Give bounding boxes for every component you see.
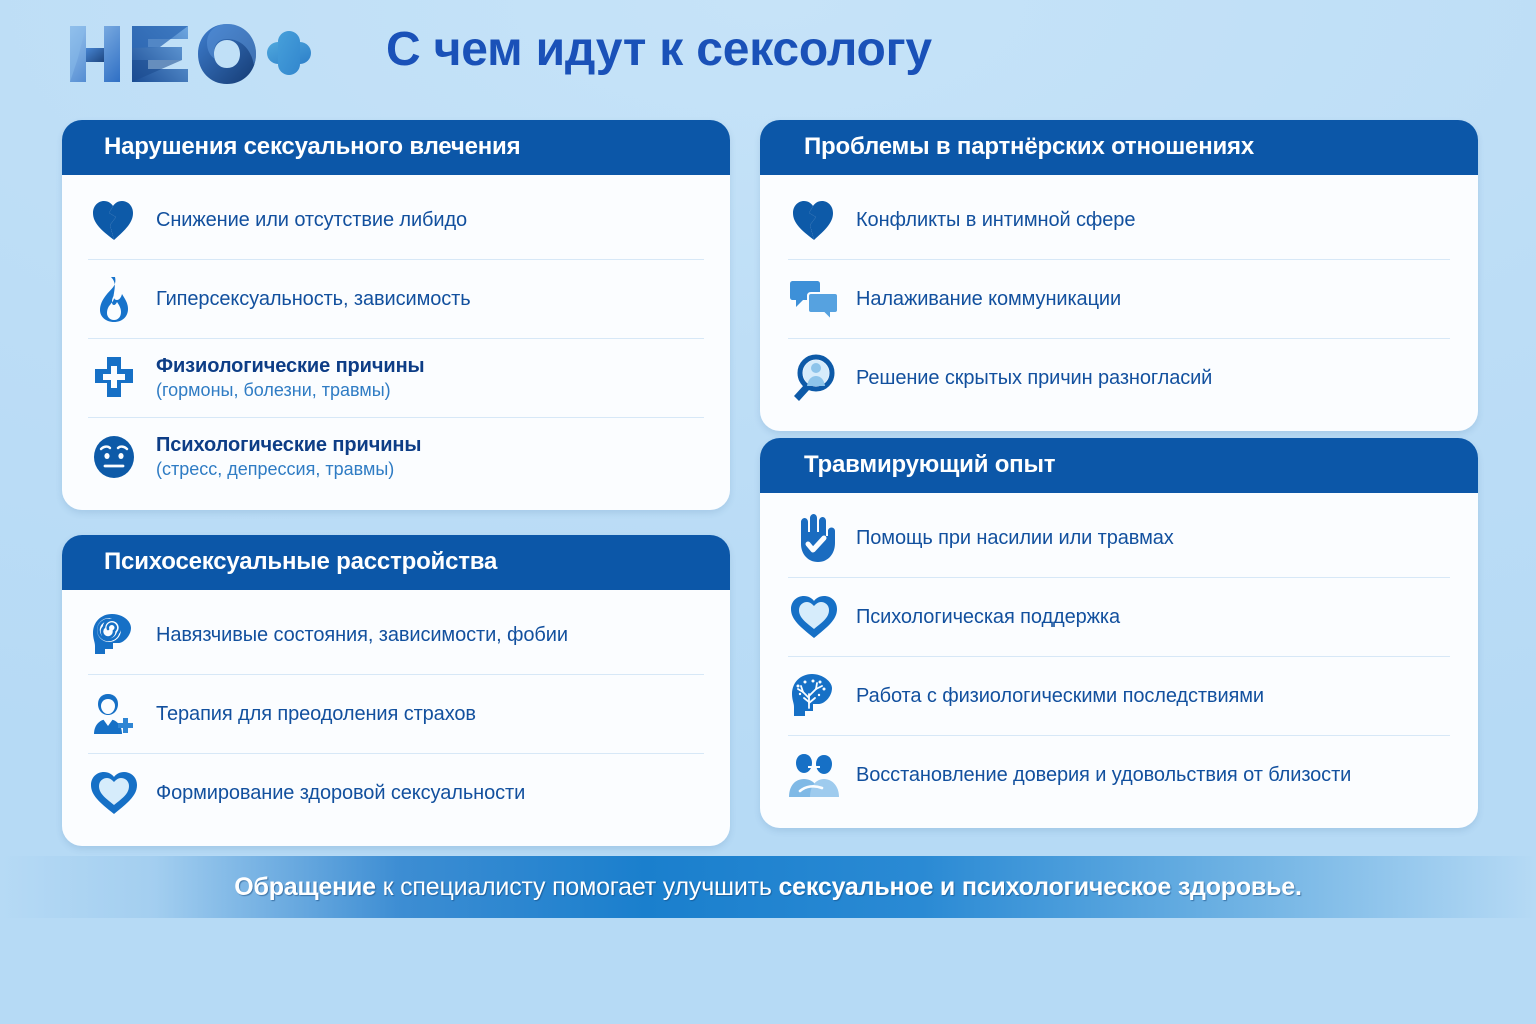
list-item-label: Психологическая поддержка bbox=[856, 606, 1120, 629]
list-item-text: Решение скрытых причин разногласий bbox=[856, 367, 1212, 390]
footer-lead: Обращение bbox=[234, 873, 376, 901]
list-item-label: Помощь при насилии или травмах bbox=[856, 527, 1174, 550]
card-psycho-body: Навязчивые состояния, зависимости, фобии… bbox=[62, 590, 730, 846]
list-item-text: Психологическая поддержка bbox=[856, 606, 1120, 629]
speech-bubbles-icon bbox=[788, 273, 840, 325]
medical-cross-icon bbox=[88, 352, 140, 404]
page-title: С чем идут к сексологу bbox=[386, 22, 932, 77]
card-libido-body: Снижение или отсутствие либидо Гиперсекс… bbox=[62, 175, 730, 510]
flame-icon bbox=[88, 273, 140, 325]
list-item-text: Конфликты в интимной сфере bbox=[856, 209, 1135, 232]
list-item-label: Навязчивые состояния, зависимости, фобии bbox=[156, 624, 568, 647]
list-item[interactable]: Конфликты в интимной сфере bbox=[788, 181, 1450, 260]
list-item[interactable]: Восстановление доверия и удовольствия от… bbox=[788, 736, 1450, 814]
card-trauma-title: Травмирующий опыт bbox=[760, 438, 1478, 493]
head-tree-icon bbox=[788, 670, 840, 722]
list-item-text: Навязчивые состояния, зависимости, фобии bbox=[156, 624, 568, 647]
footer-banner: Обращение к специалисту помогает улучшит… bbox=[0, 856, 1536, 918]
list-item-text: Восстановление доверия и удовольствия от… bbox=[856, 764, 1351, 787]
list-item[interactable]: Решение скрытых причин разногласий bbox=[788, 339, 1450, 417]
list-item-label: Восстановление доверия и удовольствия от… bbox=[856, 764, 1351, 787]
card-trauma-body: Помощь при насилии или травмах Психологи… bbox=[760, 493, 1478, 828]
heart-outline-icon bbox=[88, 767, 140, 819]
broken-heart-icon bbox=[88, 194, 140, 246]
list-item-label: Работа с физиологическими последствиями bbox=[856, 685, 1264, 708]
list-item[interactable]: Налаживание коммуникации bbox=[788, 260, 1450, 339]
list-item-text: Работа с физиологическими последствиями bbox=[856, 685, 1264, 708]
card-partner: Проблемы в партнёрских отношениях Конфли… bbox=[760, 120, 1478, 431]
card-partner-title: Проблемы в партнёрских отношениях bbox=[760, 120, 1478, 175]
list-item-text: Формирование здоровой сексуальности bbox=[156, 782, 525, 805]
card-psycho: Психосексуальные расстройства Навязчивые… bbox=[62, 535, 730, 846]
footer-banner-text: Обращение к специалисту помогает улучшит… bbox=[234, 873, 1301, 902]
list-item-label: Конфликты в интимной сфере bbox=[856, 209, 1135, 232]
list-item[interactable]: Гиперсексуальность, зависимость bbox=[88, 260, 704, 339]
list-item-label: Терапия для преодоления страхов bbox=[156, 703, 476, 726]
list-item-label: Снижение или отсутствие либидо bbox=[156, 209, 467, 232]
infographic-canvas: С чем идут к сексологу Нарушения сексуал… bbox=[0, 0, 1536, 1024]
list-item-label: Физиологические причины bbox=[156, 355, 425, 378]
list-item-label: Решение скрытых причин разногласий bbox=[856, 367, 1212, 390]
list-item-text: Налаживание коммуникации bbox=[856, 288, 1121, 311]
footer-strong: сексуальное и психологическое здоровье. bbox=[778, 873, 1301, 901]
list-item-label: Гиперсексуальность, зависимость bbox=[156, 288, 471, 311]
list-item-label: Психологические причины bbox=[156, 434, 421, 457]
list-item-sublabel: (гормоны, болезни, травмы) bbox=[156, 380, 425, 401]
sad-face-icon bbox=[88, 431, 140, 483]
head-spiral-icon bbox=[88, 609, 140, 661]
list-item[interactable]: Помощь при насилии или травмах bbox=[788, 499, 1450, 578]
card-libido-title: Нарушения сексуального влечения bbox=[62, 120, 730, 175]
card-trauma: Травмирующий опыт Помощь при насилии или… bbox=[760, 438, 1478, 828]
list-item-sublabel: (стресс, депрессия, травмы) bbox=[156, 459, 421, 480]
list-item-text: Физиологические причины (гормоны, болезн… bbox=[156, 355, 425, 401]
person-plus-icon bbox=[88, 688, 140, 740]
list-item-text: Снижение или отсутствие либидо bbox=[156, 209, 467, 232]
card-psycho-title: Психосексуальные расстройства bbox=[62, 535, 730, 590]
card-libido: Нарушения сексуального влечения Снижение… bbox=[62, 120, 730, 510]
list-item[interactable]: Снижение или отсутствие либидо bbox=[88, 181, 704, 260]
header: С чем идут к сексологу bbox=[0, 0, 1536, 110]
list-item-label: Формирование здоровой сексуальности bbox=[156, 782, 525, 805]
list-item[interactable]: Формирование здоровой сексуальности bbox=[88, 754, 704, 832]
list-item-label: Налаживание коммуникации bbox=[856, 288, 1121, 311]
card-partner-body: Конфликты в интимной сфере Налаживание к… bbox=[760, 175, 1478, 431]
list-item[interactable]: Терапия для преодоления страхов bbox=[88, 675, 704, 754]
footer-middle: к специалисту помогает улучшить bbox=[376, 873, 779, 901]
neo-plus-logo bbox=[62, 18, 312, 90]
list-item[interactable]: Работа с физиологическими последствиями bbox=[788, 657, 1450, 736]
couple-embrace-icon bbox=[788, 749, 840, 801]
list-item[interactable]: Навязчивые состояния, зависимости, фобии bbox=[88, 596, 704, 675]
list-item[interactable]: Психологические причины (стресс, депресс… bbox=[88, 418, 704, 496]
list-item[interactable]: Психологическая поддержка bbox=[788, 578, 1450, 657]
list-item-text: Психологические причины (стресс, депресс… bbox=[156, 434, 421, 480]
magnifier-person-icon bbox=[788, 352, 840, 404]
list-item[interactable]: Физиологические причины (гормоны, болезн… bbox=[88, 339, 704, 418]
heart-outline-icon bbox=[788, 591, 840, 643]
hand-check-icon bbox=[788, 512, 840, 564]
list-item-text: Помощь при насилии или травмах bbox=[856, 527, 1174, 550]
list-item-text: Гиперсексуальность, зависимость bbox=[156, 288, 471, 311]
list-item-text: Терапия для преодоления страхов bbox=[156, 703, 476, 726]
broken-heart-icon bbox=[788, 194, 840, 246]
